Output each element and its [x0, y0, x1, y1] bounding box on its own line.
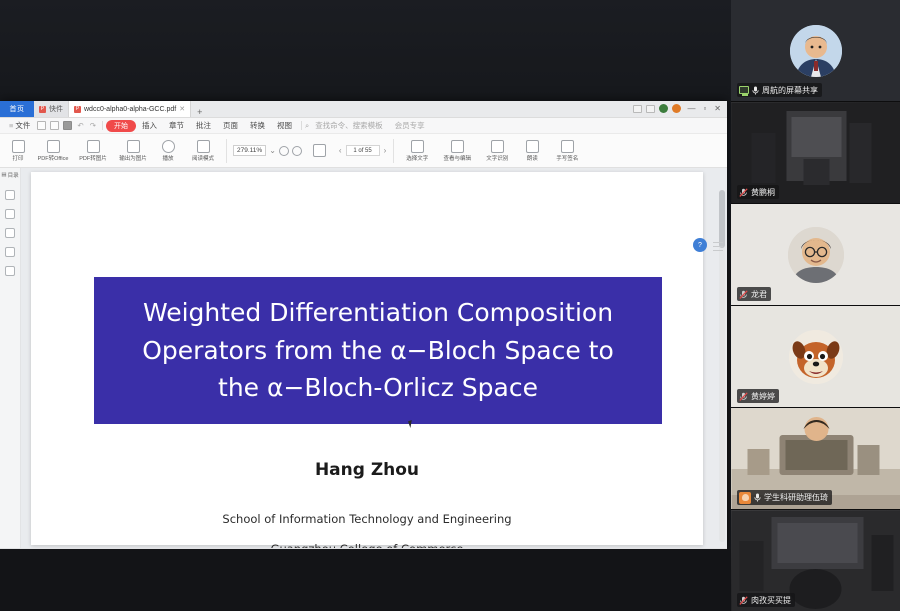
- maximize-button[interactable]: ▫: [701, 104, 708, 113]
- select-text-icon: [411, 140, 424, 153]
- chevron-left-icon: ≡: [9, 121, 13, 130]
- ribbon-label: PDF转Office: [38, 154, 69, 162]
- mic-muted-icon: [739, 290, 748, 299]
- menu-divider: [102, 121, 103, 130]
- ribbon-label: 手写签名: [556, 154, 578, 162]
- zoom-in-icon[interactable]: [292, 146, 302, 156]
- slide-title-box: Weighted Differentiation Composition Ope…: [94, 277, 662, 424]
- zoom-control[interactable]: 279.11% ⌄: [230, 145, 305, 156]
- search-input[interactable]: 查找命令、搜索模板: [309, 120, 389, 131]
- document-workspace: ▤ 目录 Weighted Differentiation Compositio…: [0, 168, 727, 548]
- participant-nameplate: 龙君: [737, 287, 771, 301]
- participant-name: 龙君: [751, 289, 767, 300]
- shared-screen-shelf: [0, 549, 731, 611]
- menu-item-3[interactable]: 批注: [190, 120, 217, 131]
- avatar: [788, 227, 844, 283]
- ribbon-group-5[interactable]: 阅读模式: [183, 140, 223, 162]
- participant-nameplate: 黄婷婷: [737, 389, 779, 403]
- toc-icon: ▤: [1, 172, 6, 178]
- participant-tile-3[interactable]: 黄婷婷: [731, 306, 900, 408]
- edit-icon: [451, 140, 464, 153]
- screen: 首页 P 快件 P wdcc0-alpha0-alpha-GCC.pdf ✕ +…: [0, 0, 900, 611]
- pdf-icon: P: [39, 106, 46, 113]
- left-rail: ▤ 目录: [0, 168, 21, 548]
- play-icon: [162, 140, 175, 153]
- menu-file[interactable]: ≡ 文件: [4, 120, 35, 131]
- slide-affiliation-1: School of Information Technology and Eng…: [31, 512, 703, 526]
- menu-item-5[interactable]: 转换: [244, 120, 271, 131]
- attachment-icon[interactable]: [5, 247, 15, 257]
- user-icon: [739, 492, 751, 504]
- participant-tile-4[interactable]: 学生科研助理伍琦: [731, 408, 900, 510]
- tab-label: wdcc0-alpha0-alpha-GCC.pdf: [84, 106, 176, 113]
- new-tab-button[interactable]: +: [191, 107, 208, 117]
- printer-icon: [12, 140, 25, 153]
- save-icon[interactable]: [37, 121, 46, 130]
- ribbon-label: PDF转图片: [79, 154, 107, 162]
- member-label[interactable]: 会员专享: [389, 120, 431, 131]
- page-indicator[interactable]: 1 of 55: [346, 145, 380, 156]
- fit-page-icon: [313, 144, 326, 157]
- thumbnail-icon[interactable]: [5, 209, 15, 219]
- help-icon[interactable]: ?: [693, 238, 707, 252]
- ribbon-label: 选择文字: [406, 154, 428, 162]
- menu-divider: [301, 121, 302, 130]
- participant-name: 周航的屏幕共享: [762, 85, 818, 96]
- pdf-icon: P: [74, 106, 81, 113]
- rail-label: 目录: [8, 171, 19, 179]
- ribbon-right-3[interactable]: 朗读: [517, 140, 547, 162]
- comment-icon[interactable]: [5, 228, 15, 238]
- avatar: [790, 25, 842, 77]
- participant-tile-1[interactable]: 黄鹏桐: [731, 102, 900, 204]
- tab-label: 快件: [49, 104, 63, 114]
- chevron-right-icon[interactable]: ›: [384, 146, 387, 155]
- ribbon-label: 输出为图片: [119, 154, 147, 162]
- tab-strip: 首页 P 快件 P wdcc0-alpha0-alpha-GCC.pdf ✕ +…: [0, 101, 727, 118]
- zoom-out-icon[interactable]: [279, 146, 289, 156]
- ribbon-right-4[interactable]: 手写签名: [547, 140, 587, 162]
- ribbon-group-1[interactable]: PDF转Office: [33, 140, 73, 162]
- print-icon[interactable]: [50, 121, 59, 130]
- participant-name: 学生科研助理伍琦: [764, 492, 828, 503]
- participant-nameplate: 周航的屏幕共享: [737, 83, 822, 97]
- slide-title-line-2: the α−Bloch-Orlicz Space: [218, 370, 538, 406]
- zoom-value[interactable]: 279.11%: [233, 145, 266, 156]
- home-tab[interactable]: 首页: [0, 101, 34, 117]
- account-avatar[interactable]: [659, 104, 668, 113]
- participant-tile-2[interactable]: 龙君: [731, 204, 900, 306]
- vip-badge-icon[interactable]: [672, 104, 681, 113]
- export-image-icon: [127, 140, 140, 153]
- participant-tile-0[interactable]: 周航的屏幕共享: [731, 0, 900, 102]
- ribbon-label: 查看与编辑: [443, 154, 471, 162]
- participant-tile-5[interactable]: 肉孜买买提: [731, 510, 900, 611]
- ribbon-right-1[interactable]: 查看与编辑: [437, 140, 477, 162]
- person-illustration: [790, 25, 842, 77]
- ribbon-label: 打印: [12, 154, 23, 162]
- avatar: [789, 330, 843, 384]
- mic-muted-icon: [739, 596, 748, 605]
- slide-author: Hang Zhou: [31, 460, 703, 480]
- minimize-button[interactable]: —: [685, 104, 697, 113]
- slide-title-line-0: Weighted Differentiation Composition: [143, 295, 613, 331]
- redo-icon[interactable]: ↷: [87, 121, 99, 130]
- slide-affiliation-2: Guangzhou College of Commerce: [31, 542, 703, 548]
- book-icon: [197, 140, 210, 153]
- menu-item-2[interactable]: 章节: [163, 120, 190, 131]
- page-marks: [713, 242, 723, 251]
- mic-icon: [752, 86, 759, 95]
- ribbon-group-4[interactable]: 播放: [153, 140, 183, 162]
- menu-file-label: 文件: [15, 120, 30, 131]
- participant-name: 黄婷婷: [751, 391, 775, 402]
- ribbon-group-0[interactable]: 打印: [3, 140, 33, 162]
- ribbon-divider: [393, 139, 394, 163]
- ribbon-group-3[interactable]: 输出为图片: [113, 140, 153, 162]
- restore-down-icon[interactable]: [633, 105, 642, 113]
- chevron-left-icon[interactable]: ‹: [339, 146, 342, 155]
- ribbon-right-2[interactable]: 文字识别: [477, 140, 517, 162]
- mic-muted-icon: [739, 392, 748, 401]
- signature-icon: [561, 140, 574, 153]
- ribbon-label: 播放: [162, 154, 173, 162]
- participant-nameplate: 黄鹏桐: [737, 185, 779, 199]
- undo-icon[interactable]: ↶: [74, 121, 86, 130]
- participant-nameplate: 肉孜买买提: [737, 593, 795, 607]
- close-button[interactable]: ✕: [712, 104, 723, 113]
- mic-muted-icon: [739, 188, 748, 197]
- menu-item-6[interactable]: 视图: [271, 120, 298, 131]
- menu-item-4[interactable]: 页面: [217, 120, 244, 131]
- stamp-icon[interactable]: [5, 266, 15, 276]
- pdf-page: Weighted Differentiation Composition Ope…: [31, 172, 703, 545]
- slide-title-line-1: Operators from the α−Bloch Space to: [142, 333, 614, 369]
- participant-nameplate: 学生科研助理伍琦: [737, 490, 832, 505]
- pdf-canvas[interactable]: Weighted Differentiation Composition Ope…: [21, 168, 727, 548]
- tab-item-0[interactable]: P 快件: [34, 101, 69, 117]
- settings-icon[interactable]: [646, 105, 655, 113]
- menu-bar: ≡ 文件 ↶ ↷ 开始 插入 章节 批注 页面 转换 视图 ⌕ 查找命令、搜索模…: [0, 118, 727, 134]
- convert-icon: [47, 140, 60, 153]
- cartoon-dog-illustration: [789, 330, 843, 384]
- wps-office-window: 首页 P 快件 P wdcc0-alpha0-alpha-GCC.pdf ✕ +…: [0, 101, 727, 549]
- desktop-top-strip: [0, 0, 731, 101]
- participant-name: 肉孜买买提: [751, 595, 791, 606]
- export-icon[interactable]: [63, 121, 72, 130]
- ribbon-toolbar: 打印 PDF转Office PDF转图片 输出为图片 播放 阅读模式: [0, 134, 727, 168]
- page-navigator[interactable]: ‹ 1 of 55 ›: [335, 145, 390, 156]
- menu-item-1[interactable]: 插入: [136, 120, 163, 131]
- close-icon[interactable]: ✕: [179, 105, 185, 113]
- tab-item-1[interactable]: P wdcc0-alpha0-alpha-GCC.pdf ✕: [69, 101, 191, 117]
- ocr-icon: [491, 140, 504, 153]
- ribbon-right-0[interactable]: 选择文字: [397, 140, 437, 162]
- bookmark-icon[interactable]: [5, 190, 15, 200]
- menu-item-0[interactable]: 开始: [106, 120, 136, 132]
- rail-toc-label[interactable]: ▤ 目录: [1, 171, 18, 179]
- read-aloud-icon: [526, 140, 539, 153]
- window-controls: — ▫ ✕: [633, 101, 727, 117]
- screen-share-icon: [739, 86, 749, 94]
- participants-panel: 周航的屏幕共享 黄鹏桐: [731, 0, 900, 611]
- fit-page-button[interactable]: [305, 144, 335, 158]
- mic-icon: [754, 493, 761, 502]
- ribbon-divider: [226, 139, 227, 163]
- ribbon-label: 朗读: [527, 154, 538, 162]
- ribbon-label: 文字识别: [486, 154, 508, 162]
- scrollbar-thumb[interactable]: [719, 190, 725, 248]
- ribbon-label: 阅读模式: [192, 154, 214, 162]
- ribbon-group-2[interactable]: PDF转图片: [73, 140, 113, 162]
- image-icon: [87, 140, 100, 153]
- person-illustration: [788, 227, 844, 283]
- participant-name: 黄鹏桐: [751, 187, 775, 198]
- chevron-down-icon[interactable]: ⌄: [269, 146, 276, 155]
